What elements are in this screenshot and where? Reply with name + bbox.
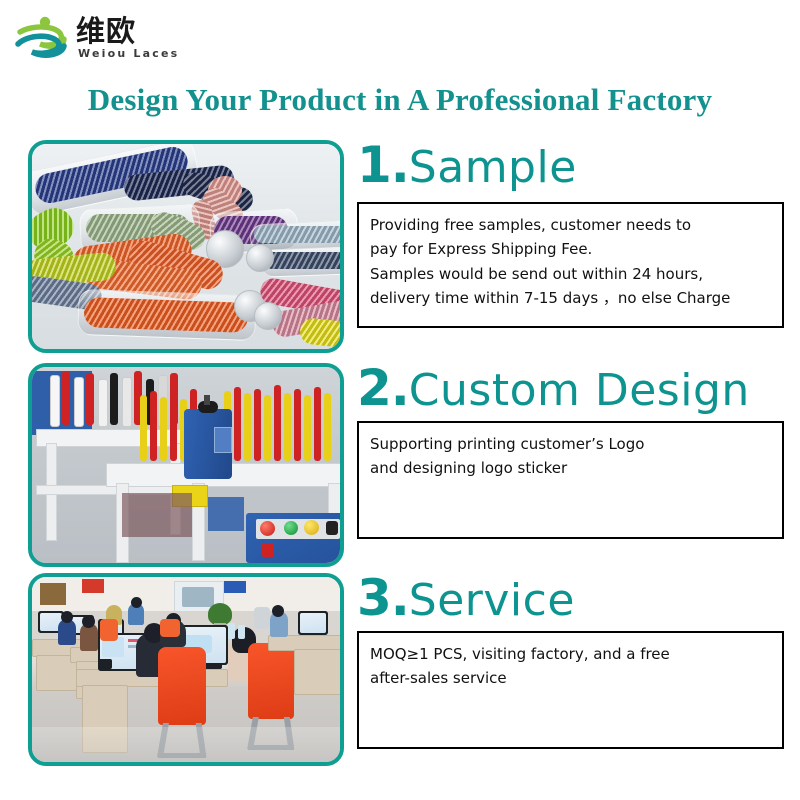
brand-name-en: Weiou Laces bbox=[78, 48, 179, 60]
section-2-title: Custom Design bbox=[409, 365, 750, 416]
section-2-line-1: Supporting printing customer’s Logo bbox=[370, 432, 771, 456]
section-2-number: 2. bbox=[357, 359, 409, 417]
section-1-textbox: Providing free samples, customer needs t… bbox=[357, 202, 784, 328]
section-3-textbox: MOQ≥1 PCS, visiting factory, and a free … bbox=[357, 631, 784, 749]
section-3-line-1: MOQ≥1 PCS, visiting factory, and a free bbox=[370, 642, 771, 666]
brand-name-cn: 维欧 bbox=[76, 16, 136, 46]
section-3-heading: 3.Service bbox=[357, 573, 575, 623]
weiou-swoosh-logo-icon bbox=[14, 14, 72, 62]
section-1-title: Sample bbox=[409, 142, 577, 193]
section-3-line-2: after-sales service bbox=[370, 666, 771, 690]
section-sample: 1.Sample Providing free samples, custome… bbox=[0, 140, 800, 345]
section-1-line-2: pay for Express Shipping Fee. bbox=[370, 237, 771, 261]
section-1-number: 1. bbox=[357, 136, 409, 194]
section-2-heading: 2.Custom Design bbox=[357, 363, 750, 413]
brand-logo: 维欧 Weiou Laces bbox=[14, 12, 254, 64]
section-1-line-3: Samples would be send out within 24 hour… bbox=[370, 262, 771, 286]
section-1-heading: 1.Sample bbox=[357, 140, 577, 190]
section-1-line-4: delivery time within 7-15 days ，no else … bbox=[370, 286, 771, 310]
section-3-title: Service bbox=[409, 575, 575, 626]
section-2-line-2: and designing logo sticker bbox=[370, 456, 771, 480]
custom-design-photo bbox=[28, 363, 344, 567]
page-title: Design Your Product in A Professional Fa… bbox=[0, 82, 800, 118]
section-custom-design: 2.Custom Design Supporting printing cust… bbox=[0, 363, 800, 559]
section-3-number: 3. bbox=[357, 569, 409, 627]
section-1-line-1: Providing free samples, customer needs t… bbox=[370, 213, 771, 237]
section-service: 3.Service MOQ≥1 PCS, visiting factory, a… bbox=[0, 573, 800, 758]
sample-photo bbox=[28, 140, 344, 353]
section-2-textbox: Supporting printing customer’s Logo and … bbox=[357, 421, 784, 539]
service-photo bbox=[28, 573, 344, 766]
